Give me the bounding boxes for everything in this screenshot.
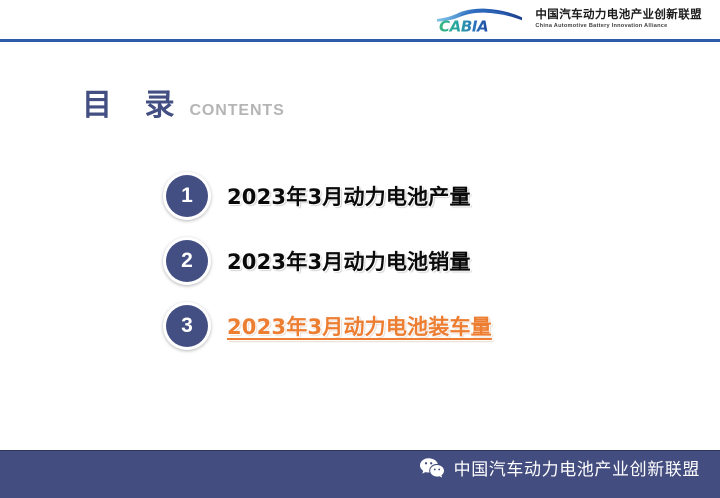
badge-number: 1 (166, 175, 208, 217)
footer-brand-text: 中国汽车动力电池产业创新联盟 (454, 455, 700, 480)
page-title-en: CONTENTS (189, 102, 284, 120)
badge-number: 2 (166, 240, 208, 282)
slide-header: CABIA 中国汽车动力电池产业创新联盟 China Automotive Ba… (0, 0, 720, 40)
brand-name-en: China Automotive Battery Innovation Alli… (535, 24, 702, 30)
wechat-icon (419, 457, 445, 479)
contents-list: 1 2023年3月动力电池产量 2 2023年3月动力电池销量 3 2023年3… (163, 163, 623, 358)
list-item-label[interactable]: 2023年3月动力电池产量 (227, 181, 471, 211)
page-title-cn: 目 录 (82, 80, 185, 124)
list-item[interactable]: 2 2023年3月动力电池销量 (163, 228, 623, 293)
item-number-badge: 1 (163, 172, 211, 220)
page-title: 目 录 CONTENTS (82, 80, 285, 124)
brand-name-cn: 中国汽车动力电池产业创新联盟 (535, 10, 702, 22)
item-number-badge: 2 (163, 237, 211, 285)
list-item-label-active[interactable]: 2023年3月动力电池装车量 (227, 311, 492, 341)
brand-lockup: CABIA 中国汽车动力电池产业创新联盟 China Automotive Ba… (431, 5, 702, 35)
badge-number: 3 (166, 305, 208, 347)
header-divider-rule (0, 39, 720, 42)
presentation-slide: CABIA 中国汽车动力电池产业创新联盟 China Automotive Ba… (0, 0, 720, 498)
item-number-badge: 3 (163, 302, 211, 350)
list-item[interactable]: 3 2023年3月动力电池装车量 (163, 293, 623, 358)
list-item[interactable]: 1 2023年3月动力电池产量 (163, 163, 623, 228)
footer-brand-lockup: 中国汽车动力电池产业创新联盟 (419, 455, 700, 480)
brand-text-block: 中国汽车动力电池产业创新联盟 China Automotive Battery … (535, 10, 702, 30)
list-item-label[interactable]: 2023年3月动力电池销量 (227, 246, 471, 276)
slide-footer: 中国汽车动力电池产业创新联盟 (0, 450, 720, 498)
cabia-car-logo-icon: CABIA (431, 5, 527, 35)
svg-text:CABIA: CABIA (439, 18, 488, 36)
